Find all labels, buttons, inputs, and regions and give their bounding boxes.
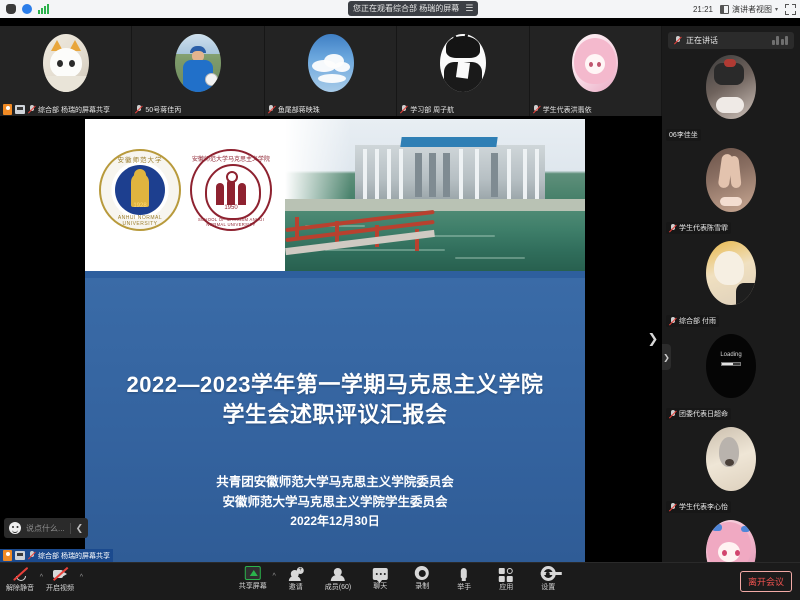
shared-screen-stage[interactable]: 安徽师范大学 1928 ANHUI NORMAL UNIVERSITY 安徽师范…	[0, 116, 662, 562]
slide-date: 2022年12月30日	[85, 512, 585, 531]
slide-subtitle: 共青团安徽师范大学马克思主义学院委员会 安徽师范大学马克思主义学院学生委员会 2…	[85, 429, 585, 530]
chevron-up-icon[interactable]: ^	[80, 574, 83, 581]
rail-name-label: 06李佳坐	[666, 129, 701, 141]
thumbnail-participant[interactable]: 学习部 周子航	[397, 26, 529, 116]
chat-collapse-icon[interactable]: ❮	[76, 523, 84, 534]
red-bridge	[285, 215, 435, 249]
share-screen-label: 共享屏幕	[239, 581, 267, 591]
avatar	[706, 520, 756, 562]
system-tray-right: 21:21 演讲者视图 ▾	[693, 0, 796, 18]
raise-hand-icon	[456, 566, 472, 581]
thumbnail-participant[interactable]: 综合部 杨瑞的屏幕共享	[0, 26, 132, 116]
avatar	[706, 55, 756, 119]
avatar-loading: Loading	[706, 334, 756, 398]
host-icon	[3, 104, 12, 115]
loading-label: Loading	[706, 352, 756, 358]
participant-name: 学生代表洪翡依	[543, 105, 592, 115]
logo-left-ring-bottom: ANHUI NORMAL UNIVERSITY	[101, 215, 179, 227]
loading-progress-bar	[721, 362, 741, 366]
sharing-notice-text: 您正在观看综合部 杨瑞的屏幕	[353, 3, 459, 14]
thumbnail-participant[interactable]: 鱼尾部蒋映珠	[265, 26, 397, 116]
apps-icon	[498, 566, 514, 581]
avatar	[706, 427, 756, 491]
mic-muted-icon	[669, 317, 676, 326]
mic-muted-icon	[669, 410, 676, 419]
slide-header: 安徽师范大学 1928 ANHUI NORMAL UNIVERSITY 安徽师范…	[85, 119, 585, 271]
rail-name-label: 综合部 付雨	[666, 315, 719, 327]
signal-bars-icon	[38, 4, 49, 14]
mic-muted-icon	[28, 551, 35, 560]
mic-muted-icon	[669, 224, 676, 233]
campus-photo	[285, 119, 585, 271]
members-button[interactable]: 成员(60)	[325, 566, 351, 592]
participant-name: 06李佳坐	[669, 130, 698, 140]
avatar	[440, 34, 486, 92]
avatar	[308, 34, 354, 92]
rail-participant[interactable]: Loading 团委代表日超命	[662, 328, 800, 421]
rail-name-label: 学生代表陈雪霏	[666, 222, 731, 234]
rail-participant[interactable]: 学生代表李心怡	[662, 421, 800, 514]
record-button[interactable]: 录制	[409, 566, 435, 591]
presentation-slide: 安徽师范大学 1928 ANHUI NORMAL UNIVERSITY 安徽师范…	[85, 119, 585, 563]
host-icon	[3, 550, 12, 561]
share-screen-icon	[245, 566, 261, 580]
anhui-normal-university-logo-icon: 安徽师范大学 1928 ANHUI NORMAL UNIVERSITY	[99, 149, 181, 231]
avatar	[43, 34, 89, 92]
rail-participant[interactable]: 综合部 付雨	[662, 235, 800, 328]
participant-name: 学生代表李心怡	[679, 502, 728, 512]
slide-org-line-1: 共青团安徽师范大学马克思主义学院委员会	[85, 473, 585, 492]
mic-muted-icon	[135, 105, 142, 114]
next-page-arrow-icon[interactable]: ❯	[646, 322, 660, 356]
thumbnail-participant[interactable]: 学生代表洪翡依	[530, 26, 662, 116]
thumbnail-name-label: 综合部 杨瑞的屏幕共享	[0, 103, 113, 116]
record-label: 录制	[415, 581, 429, 591]
audio-wave-icon	[772, 36, 789, 45]
rail-participant[interactable]: 06李佳坐	[662, 49, 800, 142]
marxism-school-logo-icon: 安徽师范大学马克思主义学院 1950 SCHOOL OF MARXISM ANH…	[190, 149, 272, 231]
slide-title-line-1: 2022—2023学年第一学期马克思主义学院	[85, 370, 585, 400]
mic-muted-icon	[669, 503, 676, 512]
slide-title: 2022—2023学年第一学期马克思主义学院 学生会述职评议汇报会	[85, 278, 585, 429]
library-building	[355, 145, 545, 201]
logo-left-year: 1928	[101, 203, 179, 209]
rail-participant[interactable]: ⌄ 张雷	[662, 514, 800, 562]
mic-muted-icon	[268, 105, 275, 114]
meeting-window: 您正在观看综合部 杨瑞的屏幕 ☰ 21:21 演讲者视图 ▾ 综合部 杨	[0, 0, 800, 600]
participant-name: 团委代表日超命	[679, 409, 728, 419]
view-mode-label: 演讲者视图	[732, 4, 772, 15]
participant-name: 鱼尾部蒋映珠	[278, 105, 320, 115]
floating-chat-input[interactable]: 说点什么... ❮	[4, 518, 88, 538]
slide-title-line-2: 学生会述职评议汇报会	[85, 400, 585, 430]
unmute-button[interactable]: 解除静音 ^	[6, 567, 34, 593]
start-video-button[interactable]: 开启视频 ^	[46, 567, 74, 593]
participant-side-rail[interactable]: 正在讲话 06李佳坐 学生代表陈雪霏	[662, 26, 800, 562]
avatar	[175, 34, 221, 92]
share-screen-button[interactable]: 共享屏幕 ^	[239, 566, 267, 591]
toolbar-center-group: 共享屏幕 ^ + 邀请 成员(60) 聊天 录制 举手	[239, 566, 561, 592]
mic-muted-icon	[674, 36, 681, 45]
participant-name: 学生代表陈雪霏	[679, 223, 728, 233]
toolbar-left-group: 解除静音 ^ 开启视频 ^	[6, 567, 74, 593]
participant-name: 50号蒋佳丙	[145, 105, 181, 115]
system-bar: 您正在观看综合部 杨瑞的屏幕 ☰ 21:21 演讲者视图 ▾	[0, 0, 800, 18]
share-source-label: 综合部 杨瑞的屏幕共享	[38, 551, 110, 561]
avatar	[572, 34, 618, 92]
slide-body: 2022—2023学年第一学期马克思主义学院 学生会述职评议汇报会 共青团安徽师…	[85, 278, 585, 563]
camera-off-icon	[52, 567, 68, 582]
share-source-strip: 综合部 杨瑞的屏幕共享	[0, 549, 113, 562]
thumbnail-name-label: 鱼尾部蒋映珠	[265, 103, 323, 116]
system-tray-left	[0, 4, 49, 14]
meeting-toolbar: 解除静音 ^ 开启视频 ^ 共享屏幕 ^ + 邀请 成员(60)	[0, 562, 800, 600]
logo-left-ring-top: 安徽师范大学	[101, 154, 179, 164]
logo-right-year: 1950	[192, 205, 270, 211]
thumbnail-name-label: 学生代表洪翡依	[530, 103, 595, 116]
mic-muted-icon	[400, 105, 407, 114]
unmute-label: 解除静音	[6, 583, 34, 593]
speaking-label: 正在讲话	[686, 35, 718, 46]
hamburger-menu-icon[interactable]: ☰	[465, 4, 473, 13]
slide-accent-bar	[85, 271, 585, 278]
record-icon	[415, 566, 429, 580]
screen-share-icon	[15, 551, 25, 560]
speaking-indicator: 正在讲话	[668, 32, 794, 49]
chevron-down-icon: ▾	[775, 6, 778, 13]
logo-right-ring-top: 安徽师范大学马克思主义学院	[192, 154, 270, 163]
invite-label: 邀请	[289, 582, 303, 592]
invite-icon: +	[288, 566, 304, 581]
participant-name: 综合部 付雨	[679, 316, 716, 326]
thumbnail-name-label: 50号蒋佳丙	[132, 103, 184, 116]
raise-hand-label: 举手	[457, 582, 471, 592]
bluetooth-icon	[22, 4, 32, 14]
divider	[70, 523, 71, 534]
thumbnail-name-label: 学习部 周子航	[397, 103, 457, 116]
chat-input-placeholder[interactable]: 说点什么...	[26, 523, 65, 534]
chat-button[interactable]: 聊天	[367, 566, 393, 591]
rail-name-label: 学生代表李心怡	[666, 501, 731, 513]
apps-button[interactable]: 应用	[493, 566, 519, 592]
chevron-up-icon[interactable]: ^	[272, 573, 275, 580]
thumbnail-participant[interactable]: 50号蒋佳丙	[132, 26, 264, 116]
members-label: 成员(60)	[325, 582, 351, 592]
chevron-up-icon[interactable]: ^	[40, 574, 43, 581]
fullscreen-icon[interactable]	[785, 4, 796, 15]
leave-meeting-button[interactable]: 离开会议	[740, 571, 792, 592]
screen-share-icon	[15, 105, 25, 114]
speaker-view-icon	[720, 5, 729, 14]
settings-label: 设置	[541, 582, 555, 592]
mic-muted-icon	[28, 105, 35, 114]
raise-hand-button[interactable]: 举手	[451, 566, 477, 592]
participant-name: 综合部 杨瑞的屏幕共享	[38, 105, 110, 115]
invite-button[interactable]: + 邀请	[283, 566, 309, 592]
gear-icon	[541, 566, 556, 581]
view-mode-selector[interactable]: 演讲者视图 ▾	[720, 4, 778, 15]
sharing-notice-pill[interactable]: 您正在观看综合部 杨瑞的屏幕 ☰	[348, 1, 478, 16]
emoji-icon[interactable]	[9, 522, 21, 534]
avatar	[706, 148, 756, 212]
toolbar-right-group: 离开会议	[740, 571, 792, 592]
participant-thumbnail-strip[interactable]: 综合部 杨瑞的屏幕共享 50号蒋佳丙 鱼尾部蒋映珠	[0, 26, 662, 116]
avatar	[706, 241, 756, 305]
clock: 21:21	[693, 5, 713, 14]
mic-muted-icon	[533, 105, 540, 114]
mic-off-icon	[12, 567, 28, 582]
slide-org-line-2: 安徽师范大学马克思主义学院学生委员会	[85, 493, 585, 512]
members-icon	[330, 566, 346, 581]
settings-button[interactable]: 设置	[535, 566, 561, 592]
participant-name: 学习部 周子航	[410, 105, 454, 115]
rail-name-label: 团委代表日超命	[666, 408, 731, 420]
rail-expand-arrow-icon[interactable]: ❯	[662, 344, 671, 370]
chat-icon	[373, 568, 388, 580]
rail-participant[interactable]: 学生代表陈雪霏	[662, 142, 800, 235]
apps-label: 应用	[499, 582, 513, 592]
shoreline	[285, 199, 585, 211]
start-video-label: 开启视频	[46, 583, 74, 593]
logo-right-ring-bottom: SCHOOL OF MARXISM ANHUI NORMAL UNIVERSIT…	[192, 217, 270, 227]
shield-icon	[6, 4, 16, 14]
